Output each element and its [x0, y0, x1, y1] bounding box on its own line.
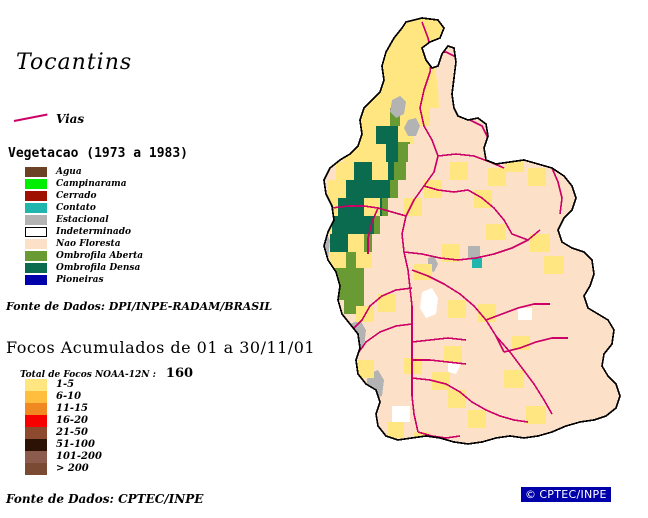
focos-color-swatch	[25, 439, 47, 451]
focos-color-swatch	[25, 427, 47, 439]
map-page: Tocantins Vias Vegetacao (1973 a 1983) A…	[0, 0, 648, 518]
focos-legend-label: 101-200	[56, 451, 102, 463]
vegetation-legend-label: Agua	[56, 167, 82, 177]
vegetation-legend-item: Ombrofila Densa	[25, 262, 265, 274]
vegetation-legend-label: Cerrado	[56, 191, 97, 201]
vegetation-legend-title: Vegetacao (1973 a 1983)	[8, 146, 188, 161]
vegetation-legend-item: Nao Floresta	[25, 238, 265, 250]
focos-legend-item: 101-200	[25, 451, 225, 463]
vegetation-legend-label: Ombrofila Aberta	[56, 251, 143, 261]
focos-legend-item: 1-5	[25, 379, 225, 391]
focos-legend-label: 51-100	[56, 439, 95, 451]
focos-legend-list: 1-56-1011-1516-2021-5051-100101-200> 200	[25, 379, 225, 475]
vegetation-legend-item: Contato	[25, 202, 265, 214]
vegetation-legend-item: Agua	[25, 166, 265, 178]
focos-color-swatch	[25, 403, 47, 415]
focos-legend-item: > 200	[25, 463, 225, 475]
vegetation-legend-label: Estacional	[56, 215, 109, 225]
vegetation-legend-item: Cerrado	[25, 190, 265, 202]
roads-legend-label: Vias	[56, 112, 84, 126]
vegetation-legend-item: Pioneiras	[25, 274, 265, 286]
focos-legend-label: 11-15	[56, 403, 88, 415]
focos-legend-item: 51-100	[25, 439, 225, 451]
focos-source-text: Fonte de Dados: CPTEC/INPE	[6, 492, 203, 506]
vegetation-color-swatch	[25, 215, 47, 225]
vegetation-legend-label: Indeterminado	[56, 227, 131, 237]
vegetation-legend-label: Contato	[56, 203, 96, 213]
page-title: Tocantins	[16, 50, 132, 75]
vegetation-color-swatch	[25, 239, 47, 249]
vegetation-legend-item: Indeterminado	[25, 226, 265, 238]
focos-color-swatch	[25, 391, 47, 403]
vegetation-legend-label: Nao Floresta	[56, 239, 121, 249]
vegetation-color-swatch	[25, 275, 47, 285]
vegetation-color-swatch	[25, 203, 47, 213]
vegetation-source-text: Fonte de Dados: DPI/INPE-RADAM/BRASIL	[6, 300, 272, 313]
vegetation-color-swatch	[25, 251, 47, 261]
vegetation-legend-item: Estacional	[25, 214, 265, 226]
vegetation-legend-item: Ombrofila Aberta	[25, 250, 265, 262]
vegetation-legend-label: Ombrofila Densa	[56, 263, 140, 273]
vegetation-color-swatch	[25, 263, 47, 273]
focos-color-swatch	[25, 379, 47, 391]
vegetation-legend-list: AguaCampinaramaCerradoContatoEstacionalI…	[25, 166, 265, 286]
focos-color-swatch	[25, 415, 47, 427]
focos-legend-label: 16-20	[56, 415, 88, 427]
focos-legend-item: 21-50	[25, 427, 225, 439]
focos-legend-item: 16-20	[25, 415, 225, 427]
vegetation-legend-item: Campinarama	[25, 178, 265, 190]
vegetation-legend-label: Campinarama	[56, 179, 127, 189]
focos-color-swatch	[25, 451, 47, 463]
focos-title: Focos Acumulados de 01 a 30/11/01	[6, 338, 315, 357]
focos-color-swatch	[25, 463, 47, 475]
vegetation-color-swatch	[25, 227, 47, 237]
focos-legend-label: 1-5	[56, 379, 74, 391]
focos-legend-item: 6-10	[25, 391, 225, 403]
vegetation-legend-label: Pioneiras	[56, 275, 104, 285]
focos-legend-label: > 200	[56, 463, 89, 475]
tocantins-map	[272, 8, 648, 508]
focos-legend-item: 11-15	[25, 403, 225, 415]
vegetation-color-swatch	[25, 191, 47, 201]
focos-legend-label: 6-10	[56, 391, 81, 403]
road-line-icon	[14, 114, 48, 122]
roads-legend: Vias	[10, 108, 210, 132]
vegetation-color-swatch	[25, 179, 47, 189]
vegetation-color-swatch	[25, 167, 47, 177]
focos-legend-label: 21-50	[56, 427, 88, 439]
